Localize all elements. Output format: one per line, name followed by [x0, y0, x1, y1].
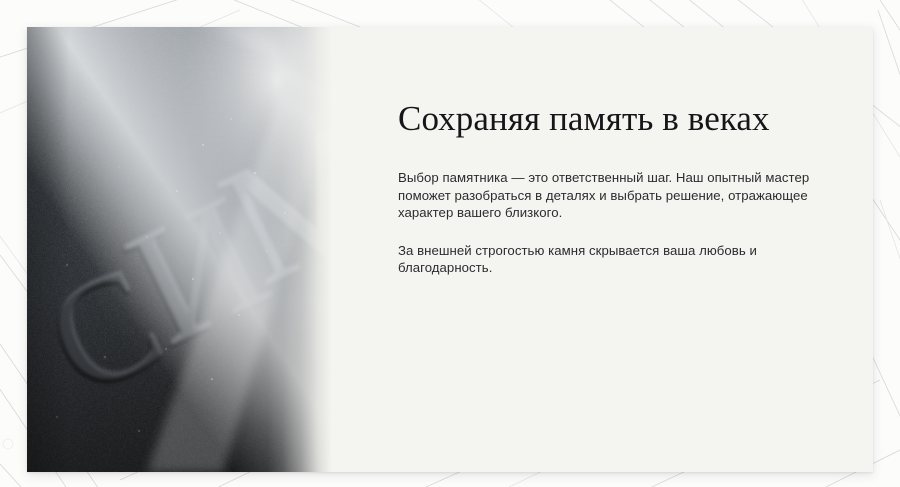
paragraph-secondary: За внешней строгостью камня скрывается в… — [398, 242, 827, 277]
page-title: Сохраняя память в веках — [398, 99, 827, 138]
paragraph-primary: Выбор памятника — это ответственный шаг.… — [398, 169, 827, 222]
text-panel: Сохраняя память в веках Выбор памятника … — [332, 27, 873, 472]
granite-photo-panel: С С И И М М — [27, 27, 332, 472]
granite-memorial-image: С С И И М М — [27, 27, 332, 472]
body-copy: Выбор памятника — это ответственный шаг.… — [398, 169, 827, 277]
hero-card: С С И И М М — [27, 27, 873, 472]
